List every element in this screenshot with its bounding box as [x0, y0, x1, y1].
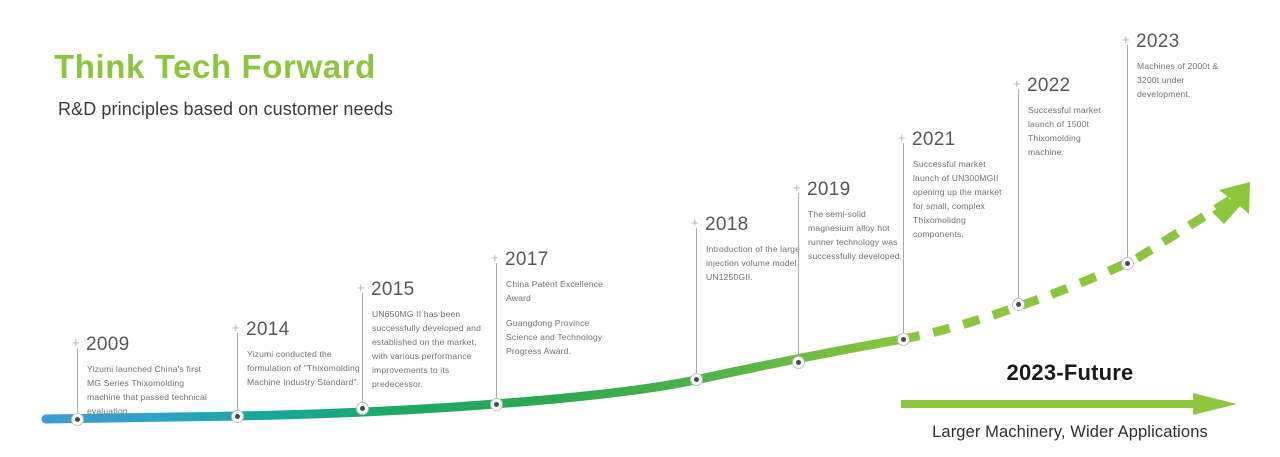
plus-icon: + — [691, 216, 699, 229]
milestone-2014[interactable]: + 2014 Yizumi conducted the formulation … — [232, 320, 362, 390]
milestone-2023[interactable]: + 2023 Machines of 2000t & 3200t under d… — [1122, 32, 1222, 102]
leader-line-2023 — [1127, 45, 1128, 263]
milestone-text: Machines of 2000t & 3200t under developm… — [1137, 60, 1222, 102]
milestone-body: Yizumi conducted the formulation of "Thi… — [247, 348, 362, 390]
timeline-marker-2015[interactable] — [356, 402, 369, 415]
leader-line-2015 — [362, 293, 363, 408]
milestone-text: Yizumi conducted the formulation of "Thi… — [247, 348, 362, 390]
plus-icon: + — [491, 251, 499, 264]
plus-icon: + — [357, 281, 365, 294]
milestone-text: Guangdong Province Science and Technolog… — [506, 317, 621, 359]
timeline-marker-2019[interactable] — [792, 356, 805, 369]
milestone-text: The semi-solid magnesium alloy hot runne… — [808, 208, 905, 264]
curve-arrowhead — [1212, 182, 1250, 224]
leader-line-2018 — [696, 228, 697, 379]
page-subtitle: R&D principles based on customer needs — [58, 99, 614, 120]
future-callout: 2023-Future Larger Machinery, Wider Appl… — [896, 362, 1244, 441]
milestone-year: 2014 — [246, 320, 362, 339]
timeline-marker-2022[interactable] — [1012, 298, 1025, 311]
milestone-body: China Patent Excellence Award Guangdong … — [506, 278, 621, 359]
milestone-year: 2022 — [1027, 76, 1109, 95]
milestone-2019[interactable]: + 2019 The semi-solid magnesium alloy ho… — [793, 180, 905, 264]
timeline-marker-2023[interactable] — [1121, 257, 1134, 270]
timeline-marker-2009[interactable] — [71, 413, 84, 426]
milestone-year: 2009 — [86, 335, 212, 354]
milestone-text: UN650MG II has been successfully develop… — [372, 308, 485, 392]
leader-line-2022 — [1018, 89, 1019, 304]
plus-icon: + — [793, 181, 801, 194]
header: Think Tech Forward R&D principles based … — [54, 50, 614, 120]
plus-icon: + — [898, 131, 906, 144]
milestone-2017[interactable]: + 2017 China Patent Excellence Award Gua… — [491, 250, 621, 359]
future-arrow-icon — [901, 391, 1239, 417]
page-title: Think Tech Forward — [54, 50, 614, 85]
milestone-text: Successful market launch of 1500t Thixom… — [1028, 104, 1109, 160]
leader-line-2019 — [798, 193, 799, 362]
milestone-year: 2017 — [505, 250, 621, 269]
timeline-marker-2018[interactable] — [690, 373, 703, 386]
milestone-2021[interactable]: + 2021 Successful market launch of UN300… — [898, 130, 1006, 242]
milestone-2009[interactable]: + 2009 Yizumi launched China's first MG … — [72, 335, 212, 419]
future-title: 2023-Future — [896, 362, 1244, 384]
plus-icon: + — [1122, 33, 1130, 46]
leader-line-2014 — [237, 333, 238, 416]
timeline-infographic: Think Tech Forward R&D principles based … — [0, 0, 1280, 457]
timeline-marker-2021[interactable] — [897, 333, 910, 346]
milestone-2018[interactable]: + 2018 Introduction of the large injecti… — [691, 215, 809, 285]
milestone-body: Successful market launch of UN300MGII op… — [913, 158, 1006, 242]
plus-icon: + — [1013, 77, 1021, 90]
milestone-year: 2021 — [912, 130, 1006, 149]
timeline-marker-2017[interactable] — [490, 398, 503, 411]
leader-line-2009 — [77, 348, 78, 418]
milestone-2015[interactable]: + 2015 UN650MG II has been successfully … — [357, 280, 485, 392]
leader-line-2021 — [903, 143, 904, 339]
milestone-body: Successful market launch of 1500t Thixom… — [1028, 104, 1109, 160]
milestone-body: The semi-solid magnesium alloy hot runne… — [808, 208, 905, 264]
leader-line-2017 — [496, 263, 497, 404]
future-caption: Larger Machinery, Wider Applications — [896, 424, 1244, 441]
milestone-2022[interactable]: + 2022 Successful market launch of 1500t… — [1013, 76, 1109, 160]
milestone-year: 2023 — [1136, 32, 1222, 51]
timeline-marker-2014[interactable] — [231, 410, 244, 423]
milestone-body: Machines of 2000t & 3200t under developm… — [1137, 60, 1222, 102]
milestone-body: Yizumi launched China's first MG Series … — [87, 363, 212, 419]
milestone-year: 2019 — [807, 180, 905, 199]
milestone-text: China Patent Excellence Award — [506, 278, 621, 306]
plus-icon: + — [72, 336, 80, 349]
plus-icon: + — [232, 321, 240, 334]
milestone-text: Yizumi launched China's first MG Series … — [87, 363, 212, 419]
milestone-year: 2015 — [371, 280, 485, 299]
milestone-body: UN650MG II has been successfully develop… — [372, 308, 485, 392]
milestone-text: Successful market launch of UN300MGII op… — [913, 158, 1006, 242]
